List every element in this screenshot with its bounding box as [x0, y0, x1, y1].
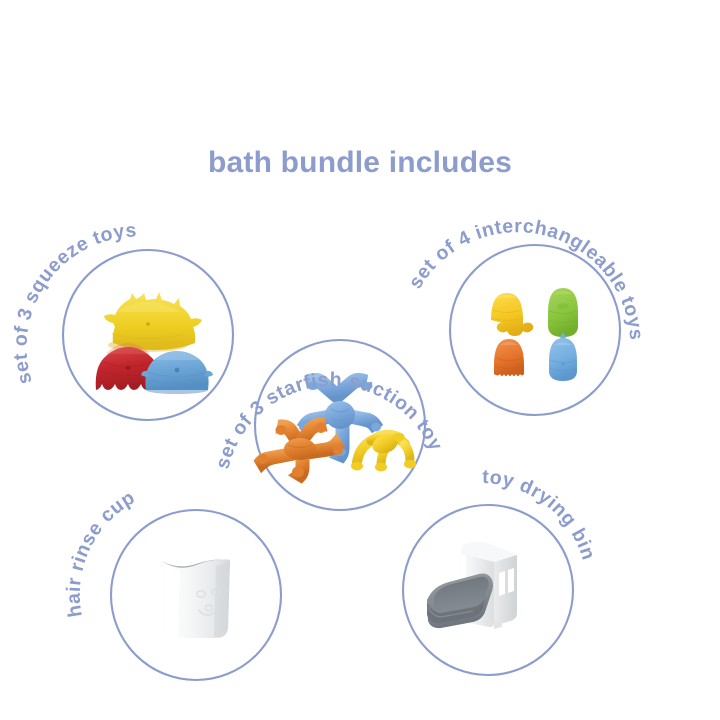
infographic-canvas: bath bundle includes — [0, 0, 720, 720]
page-title: bath bundle includes — [208, 146, 512, 179]
orange-interchangeable-toy — [494, 339, 524, 376]
circle-outline-interchangeable-toys — [450, 245, 620, 415]
bundle-item-interchangeable-toys: set of 4 interchangleable toys — [404, 215, 647, 415]
white-hair-rinse-cup — [161, 560, 230, 640]
bundle-item-toy-drying-bin: toy drying bin — [403, 466, 600, 675]
green-interchangeable-toy — [548, 288, 578, 337]
bundle-item-hair-rinse-cup: hair rinse cup — [63, 486, 281, 680]
bundle-item-squeeze-toys: set of 3 squeeze toys — [9, 219, 233, 420]
label-starfish-suction-toys: set of 3 starfish suction toys — [0, 0, 447, 471]
